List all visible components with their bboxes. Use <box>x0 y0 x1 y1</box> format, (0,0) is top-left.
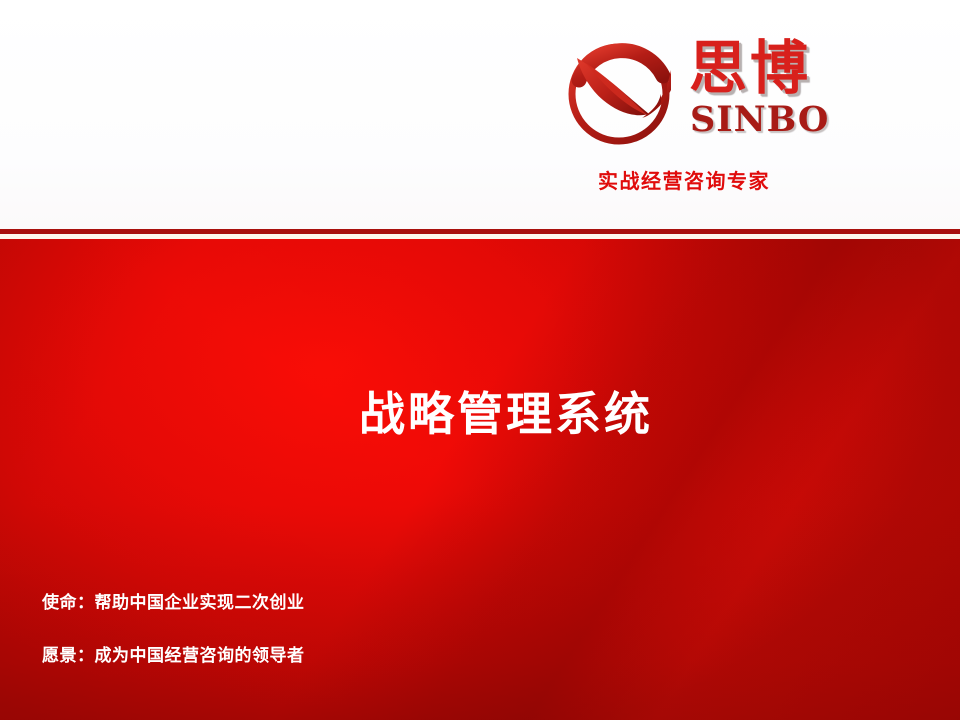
presentation-slide: 思博 SINBO 实战经营咨询专家 战略管理系统 使命：帮助中国企业实现二次创业… <box>0 0 960 720</box>
logo-english-text: SINBO <box>690 99 829 140</box>
slide-header: 思博 SINBO 实战经营咨询专家 <box>0 0 960 229</box>
sinbo-phoenix-emblem <box>563 36 683 148</box>
logo-chinese-text: 思博 <box>689 35 811 101</box>
slide-title: 战略管理系统 <box>0 378 960 444</box>
mission-vision-block: 使命：帮助中国企业实现二次创业 愿景：成为中国经营咨询的领导者 <box>42 588 602 666</box>
company-tagline: 实战经营咨询专家 <box>598 165 770 194</box>
mission-statement: 使命：帮助中国企业实现二次创业 <box>42 588 602 613</box>
company-logo: 思博 SINBO <box>563 33 853 153</box>
logo-wordmark: 思博 SINBO <box>687 33 855 151</box>
vision-statement: 愿景：成为中国经营咨询的领导者 <box>42 641 602 666</box>
